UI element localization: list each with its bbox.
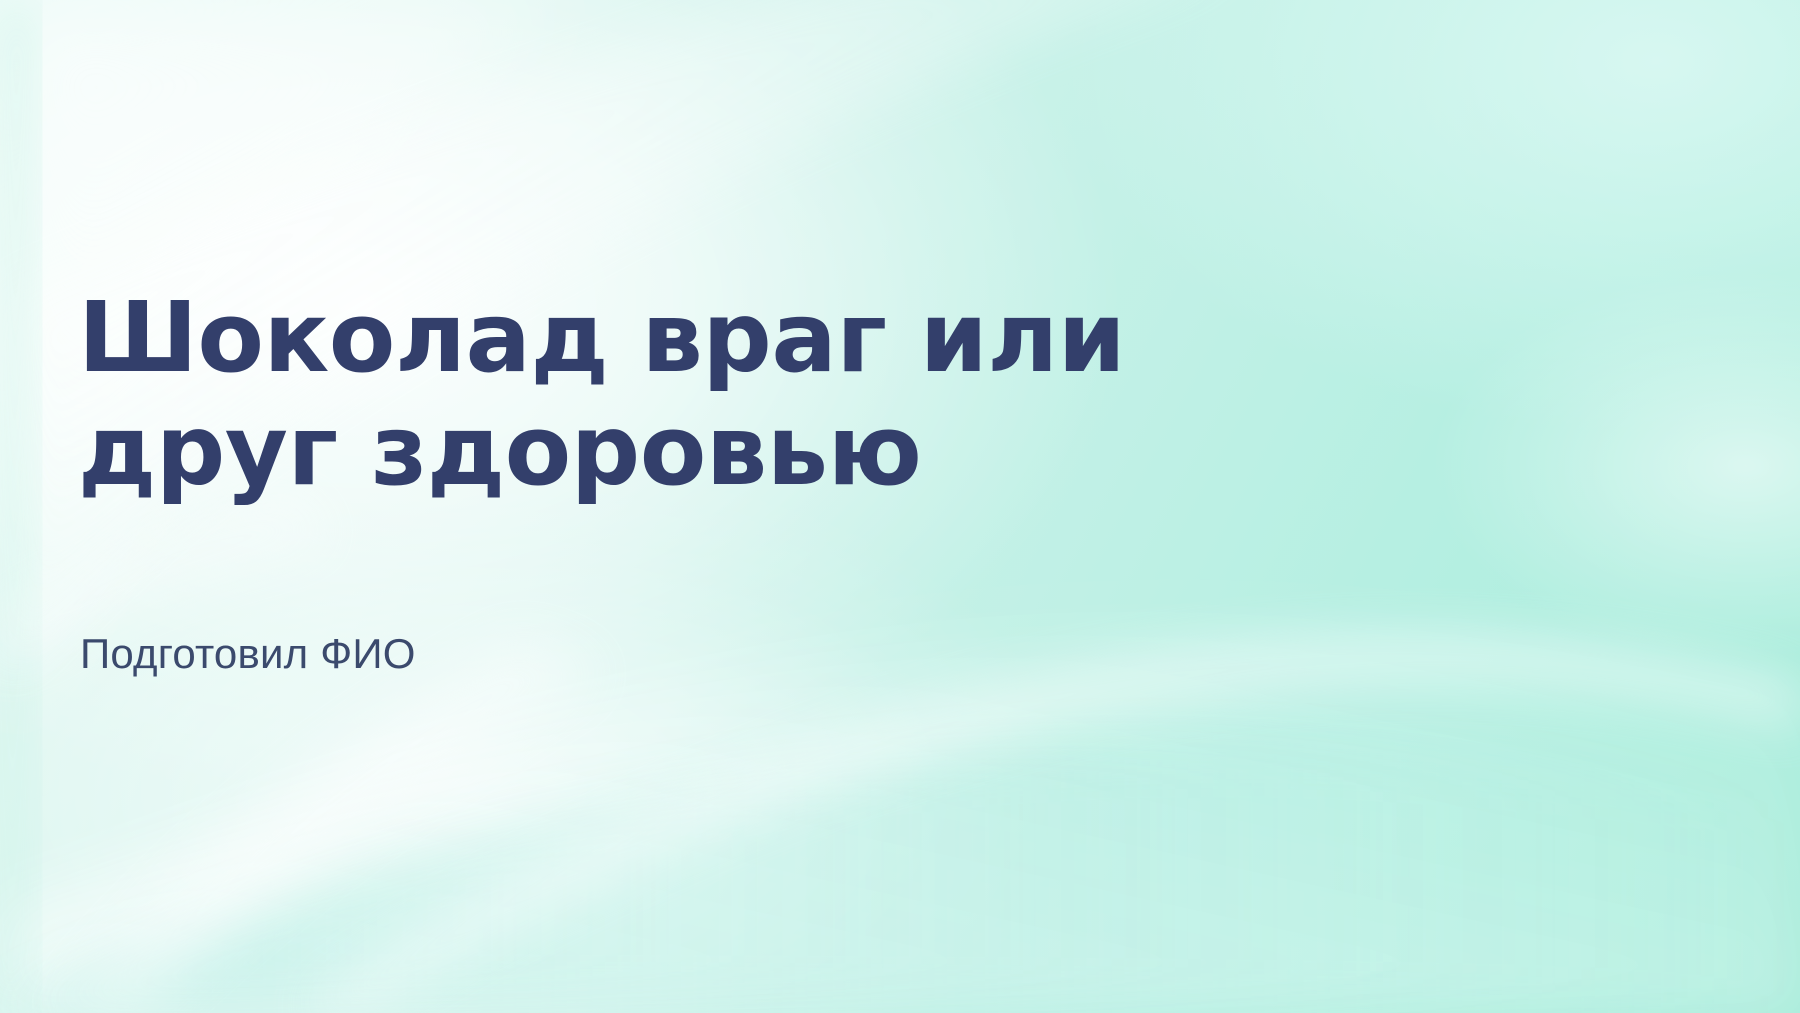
slide-content: Шоколад враг или друг здоровью Подготови… xyxy=(78,0,1478,1013)
slide-title: Шоколад враг или друг здоровью xyxy=(78,282,1408,507)
title-slide: Шоколад враг или друг здоровью Подготови… xyxy=(0,0,1800,1013)
slide-subtitle-author: Подготовил ФИО xyxy=(80,628,416,681)
